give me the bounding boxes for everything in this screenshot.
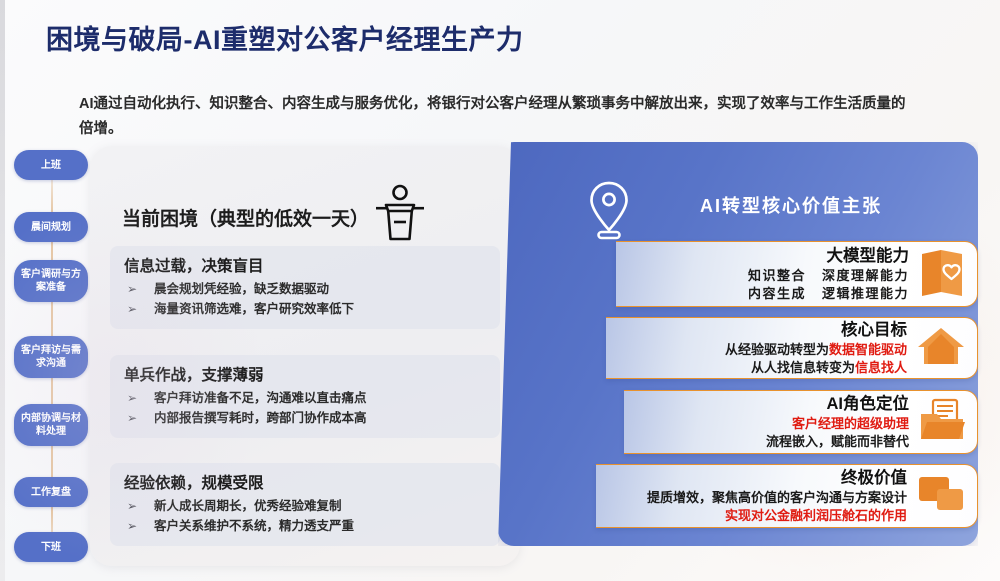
capability-line: 知识整合 (748, 267, 806, 285)
timeline-item-2[interactable]: 客户调研与方案准备 (14, 260, 88, 302)
current-problems-heading-text: 当前困境（典型的低效一天） (122, 204, 369, 231)
problem-point: ➢ 内部报告撰写耗时，跨部门协作成本高 (124, 408, 486, 428)
problem-title: 经验依赖，规模受限 (124, 471, 486, 493)
chevron-bullet-icon: ➢ (124, 279, 154, 299)
chevron-bullet-icon: ➢ (124, 299, 154, 319)
problem-block-2: 经验依赖，规模受限 ➢ 新人成长周期长，优秀经验难复制 ➢ 客户关系维护不系统，… (110, 463, 500, 546)
page-title: 困境与破局-AI重塑对公客户经理生产力 (46, 18, 524, 57)
problem-title: 信息过载，决策盲目 (124, 254, 486, 276)
value-card-title: AI角色定位 (766, 394, 909, 415)
value-card-text: 终极价值 提质增效，聚焦高价值的客户沟通与方案设计 实现对公金融利润压舱石的作用 (647, 468, 915, 525)
value-card-2[interactable]: AI角色定位 客户经理的超级助理 流程嵌入，赋能而非替代 (624, 390, 978, 454)
chevron-bullet-icon: ➢ (124, 496, 154, 516)
timeline-item-5[interactable]: 工作复盘 (14, 477, 88, 507)
stacked-cards-icon (915, 472, 967, 521)
value-card-line: 流程嵌入，赋能而非替代 (766, 433, 909, 451)
problem-point: ➢ 新人成长周期长，优秀经验难复制 (124, 496, 486, 516)
capability-column-0: 知识整合 内容生成 (748, 267, 806, 303)
timeline-item-3[interactable]: 客户拜访与需求沟通 (14, 336, 88, 378)
folder-document-icon (917, 396, 967, 449)
problem-block-0: 信息过载，决策盲目 ➢ 晨会规划凭经验，缺乏数据驱动 ➢ 海量资讯筛选难，客户研… (110, 246, 500, 329)
book-heart-icon (917, 246, 967, 303)
line-highlight: 实现对公金融利润压舱石的作用 (725, 508, 907, 523)
slide-canvas: 困境与破局-AI重塑对公客户经理生产力 AI通过自动化执行、知识整合、内容生成与… (0, 0, 1000, 581)
line-plain: 提质增效，聚焦高价值的客户沟通与方案设计 (647, 490, 907, 505)
line-highlight: 客户经理的超级助理 (792, 416, 909, 431)
value-card-line: 从人找信息转变为信息找人 (725, 359, 907, 377)
capability-column-1: 深度理解能力 逻辑推理能力 (822, 267, 909, 303)
line-highlight: 信息找人 (855, 360, 907, 375)
value-card-text: 大模型能力 知识整合 内容生成 深度理解能力 逻辑推理能力 (748, 246, 917, 303)
line-plain: 从人找信息转变为 (751, 360, 855, 375)
value-card-line: 从经验驱动转型为数据智能驱动 (725, 341, 907, 359)
value-card-text: 核心目标 从经验驱动转型为数据智能驱动 从人找信息转变为信息找人 (725, 320, 915, 377)
value-card-title: 大模型能力 (748, 246, 909, 267)
line-plain: 从经验驱动转型为 (725, 342, 829, 357)
capability-columns: 知识整合 内容生成 深度理解能力 逻辑推理能力 (748, 267, 909, 303)
value-card-line: 客户经理的超级助理 (766, 415, 909, 433)
chevron-bullet-icon: ➢ (124, 408, 154, 428)
problem-block-1: 单兵作战，支撑薄弱 ➢ 客户拜访准备不足，沟通难以直击痛点 ➢ 内部报告撰写耗时… (110, 355, 500, 438)
problem-point-text: 海量资讯筛选难，客户研究效率低下 (154, 299, 354, 319)
ai-value-panel-heading: AI转型核心价值主张 (700, 192, 882, 218)
timeline-item-4[interactable]: 内部协调与材料处理 (14, 404, 88, 446)
current-problems-panel: 当前困境（典型的低效一天） 信息过载，决策盲目 ➢ 晨会规划凭经验，缺乏数据驱动 (90, 146, 520, 566)
chevron-bullet-icon: ➢ (124, 388, 154, 408)
location-pin-icon (587, 180, 631, 245)
problem-point-text: 晨会规划凭经验，缺乏数据驱动 (154, 279, 329, 299)
line-plain: 流程嵌入，赋能而非替代 (766, 434, 909, 449)
timeline-rail: 上班 晨间规划 客户调研与方案准备 客户拜访与需求沟通 内部协调与材料处理 工作… (8, 150, 94, 570)
value-card-line: 实现对公金融利润压舱石的作用 (647, 507, 907, 525)
value-card-0[interactable]: 大模型能力 知识整合 内容生成 深度理解能力 逻辑推理能力 (616, 241, 978, 307)
value-card-title: 终极价值 (647, 468, 907, 489)
timeline-item-1[interactable]: 晨间规划 (14, 212, 88, 242)
problem-point-text: 新人成长周期长，优秀经验难复制 (154, 496, 342, 516)
problem-point: ➢ 客户拜访准备不足，沟通难以直击痛点 (124, 388, 486, 408)
problem-title: 单兵作战，支撑薄弱 (124, 363, 486, 385)
problem-point-text: 客户关系维护不系统，精力透支严重 (154, 516, 354, 536)
value-card-3[interactable]: 终极价值 提质增效，聚焦高价值的客户沟通与方案设计 实现对公金融利润压舱石的作用 (596, 464, 978, 528)
current-problems-heading: 当前困境（典型的低效一天） (122, 184, 427, 250)
house-icon (915, 323, 967, 374)
value-card-line: 提质增效，聚焦高价值的客户沟通与方案设计 (647, 489, 907, 507)
podium-icon (373, 184, 427, 250)
capability-line: 内容生成 (748, 285, 806, 303)
problem-point: ➢ 晨会规划凭经验，缺乏数据驱动 (124, 279, 486, 299)
problem-point-text: 客户拜访准备不足，沟通难以直击痛点 (154, 388, 367, 408)
chevron-bullet-icon: ➢ (124, 516, 154, 536)
timeline-item-6[interactable]: 下班 (14, 532, 88, 562)
capability-line: 逻辑推理能力 (822, 285, 909, 303)
capability-line: 深度理解能力 (822, 267, 909, 285)
left-edge-stripe (0, 0, 5, 581)
value-card-1[interactable]: 核心目标 从经验驱动转型为数据智能驱动 从人找信息转变为信息找人 (606, 317, 978, 379)
page-subtitle: AI通过自动化执行、知识整合、内容生成与服务优化，将银行对公客户经理从繁琐事务中… (79, 92, 909, 142)
line-highlight: 数据智能驱动 (829, 342, 907, 357)
value-card-title: 核心目标 (725, 320, 907, 341)
problem-point: ➢ 客户关系维护不系统，精力透支严重 (124, 516, 486, 536)
timeline-item-0[interactable]: 上班 (14, 150, 88, 180)
value-card-text: AI角色定位 客户经理的超级助理 流程嵌入，赋能而非替代 (766, 394, 917, 451)
problem-point: ➢ 海量资讯筛选难，客户研究效率低下 (124, 299, 486, 319)
problem-point-text: 内部报告撰写耗时，跨部门协作成本高 (154, 408, 367, 428)
